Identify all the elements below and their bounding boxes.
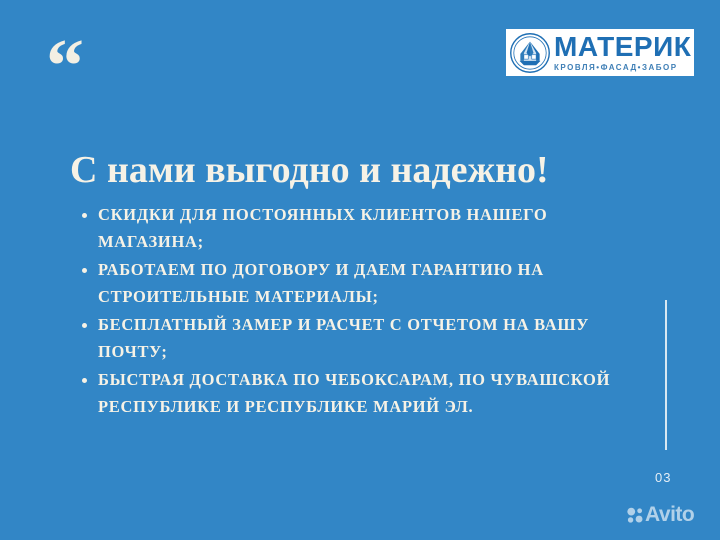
company-logo: МАТЕРИК КРОВЛЯ•ФАСАД•ЗАБОР	[506, 29, 694, 76]
list-item: СКИДКИ ДЛЯ ПОСТОЯННЫХ КЛИЕНТОВ НАШЕГО МА…	[78, 202, 638, 255]
decorative-vertical-rule	[665, 300, 667, 450]
house-roof-emblem-icon	[509, 32, 551, 74]
logo-text-block: МАТЕРИК КРОВЛЯ•ФАСАД•ЗАБОР	[554, 33, 691, 72]
avito-wordmark: Avito	[645, 504, 694, 525]
avito-dots-icon	[626, 506, 644, 524]
avito-watermark: Avito	[626, 504, 694, 525]
benefits-list: СКИДКИ ДЛЯ ПОСТОЯННЫХ КЛИЕНТОВ НАШЕГО МА…	[78, 202, 638, 422]
list-item: БЕСПЛАТНЫЙ ЗАМЕР И РАСЧЕТ С ОТЧЕТОМ НА В…	[78, 312, 638, 365]
list-item: РАБОТАЕМ ПО ДОГОВОРУ И ДАЕМ ГАРАНТИЮ НА …	[78, 257, 638, 310]
list-item: БЫСТРАЯ ДОСТАВКА ПО ЧЕБОКСАРАМ, ПО ЧУВАШ…	[78, 367, 638, 420]
page-number: 03	[655, 470, 671, 485]
slide-canvas: “ МАТЕРИК КРОВЛЯ•ФАСАД•ЗАБОР С нами выго…	[0, 0, 720, 540]
logo-tagline: КРОВЛЯ•ФАСАД•ЗАБОР	[554, 64, 691, 72]
logo-wordmark: МАТЕРИК	[554, 33, 691, 61]
decorative-quote-icon: “	[46, 28, 82, 104]
slide-headline: С нами выгодно и надежно!	[70, 148, 650, 192]
